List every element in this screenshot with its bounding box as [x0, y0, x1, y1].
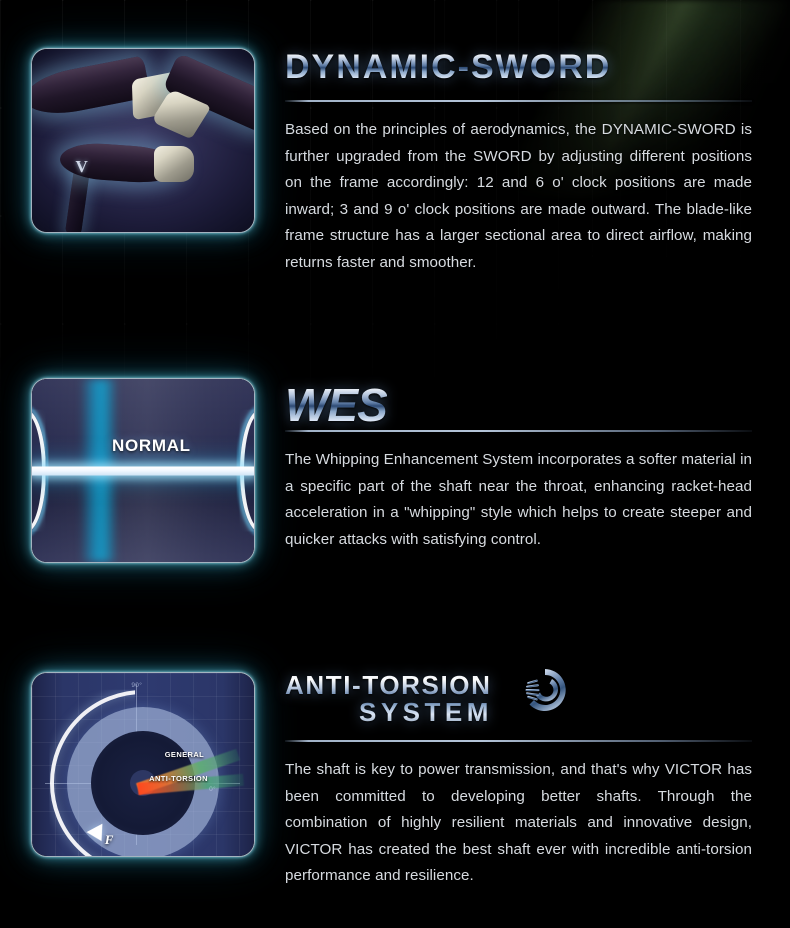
body-text-dynamic-sword: Based on the principles of aerodynamics,…	[285, 117, 752, 277]
victor-logo-mark: V	[76, 157, 95, 177]
section-wes: NORMAL WES The Whipping Enhancement Syst…	[0, 378, 790, 563]
section-dynamic-sword: V DYNAMIC-SWORD Based on the principles …	[0, 48, 790, 277]
thumbnail-column-dynamic-sword: V	[0, 48, 285, 277]
heading-rule-dynamic-sword	[285, 100, 752, 102]
heading-anti-torsion-line1: ANTI-TORSION	[285, 670, 492, 700]
promo-page: V DYNAMIC-SWORD Based on the principles …	[0, 0, 790, 928]
label-general: GENERAL	[165, 750, 204, 759]
frame-cap-bottom	[154, 146, 194, 182]
heading-dynamic-sword-text: DYNAMIC-SWORD	[285, 48, 611, 86]
image-panel-frame-cross-sections: V	[31, 48, 255, 233]
heading-rule-anti-torsion	[285, 740, 752, 742]
image-panel-torsion-diagram: GENERAL ANTI-TORSION 90° 0° F	[31, 672, 255, 857]
heading-wes-text: WES	[285, 379, 387, 431]
heading-anti-torsion-text: ANTI-TORSION SYSTEM	[285, 672, 493, 725]
text-column-anti-torsion: ANTI-TORSION SYSTEM	[285, 672, 790, 890]
image-panel-shaft-normal: NORMAL	[31, 378, 255, 563]
text-column-wes: WES The Whipping Enhancement System inco…	[285, 378, 790, 563]
heading-anti-torsion-line2: SYSTEM	[359, 699, 493, 726]
anti-torsion-spiral-icon	[522, 667, 568, 713]
section-anti-torsion-system: GENERAL ANTI-TORSION 90° 0° F ANTI-TORSI…	[0, 672, 790, 890]
heading-wes: WES	[285, 378, 752, 424]
panel-label-normal: NORMAL	[112, 436, 191, 456]
text-column-dynamic-sword: DYNAMIC-SWORD Based on the principles of…	[285, 48, 790, 277]
heading-dynamic-sword: DYNAMIC-SWORD	[285, 48, 752, 94]
racket-shaft	[32, 466, 254, 475]
label-anti-torsion: ANTI-TORSION	[149, 774, 208, 783]
thumbnail-column-anti-torsion: GENERAL ANTI-TORSION 90° 0° F	[0, 672, 285, 890]
angle-label-0: 0°	[209, 786, 216, 793]
body-text-wes: The Whipping Enhancement System incorpor…	[285, 447, 752, 553]
thumbnail-column-wes: NORMAL	[0, 378, 285, 563]
label-force: F	[105, 832, 114, 848]
angle-label-90: 90°	[131, 682, 142, 689]
heading-anti-torsion-system: ANTI-TORSION SYSTEM	[285, 672, 752, 734]
body-text-anti-torsion: The shaft is key to power transmission, …	[285, 757, 752, 890]
